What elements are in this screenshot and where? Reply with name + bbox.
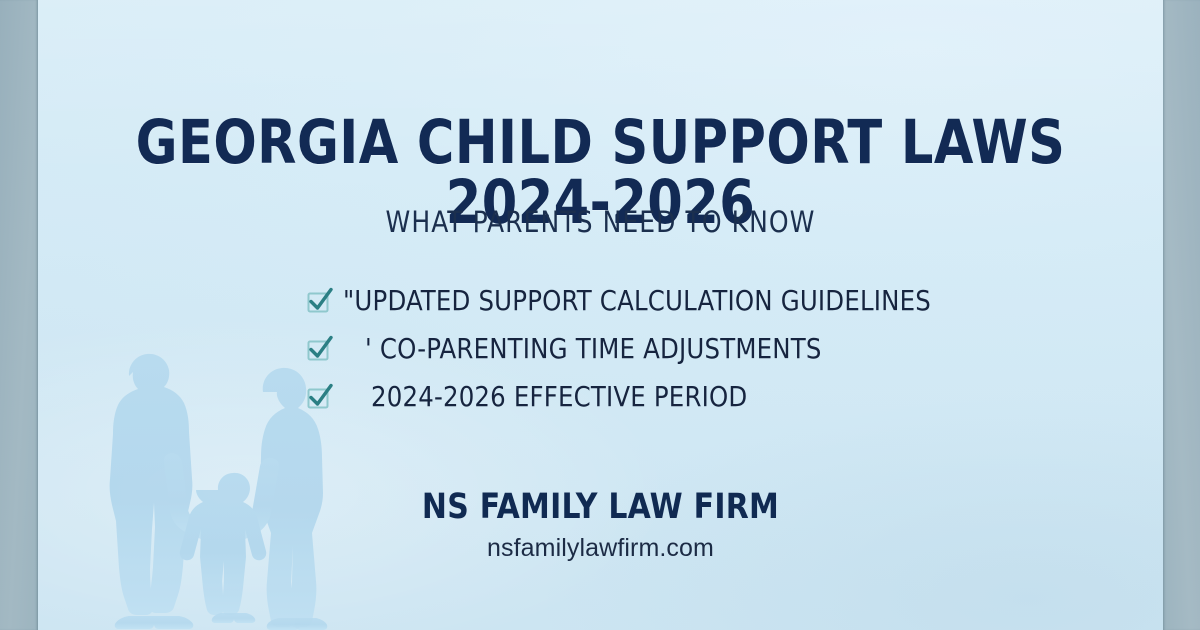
checkmark-icon — [305, 285, 335, 315]
letterbox-bar-right — [1163, 0, 1200, 630]
page-subtitle: WHAT PARENTS NEED TO KNOW — [61, 205, 1141, 239]
checklist-item-label: 2024-2026 EFFECTIVE PERIOD — [371, 380, 747, 413]
checklist-item-label: "UPDATED SUPPORT CALCULATION GUIDELINES — [343, 284, 931, 317]
poster-background: GEORGIA CHILD SUPPORT LAWS 2024-2026 WHA… — [38, 0, 1163, 630]
checklist-item: 2024-2026 EFFECTIVE PERIOD — [297, 379, 905, 413]
website-url[interactable]: nsfamilylawfirm.com — [38, 534, 1163, 563]
brand-name: NS FAMILY LAW FIRM — [66, 487, 1135, 527]
checklist-item-label: ' CO-PARENTING TIME ADJUSTMENTS — [365, 332, 822, 365]
poster-canvas: GEORGIA CHILD SUPPORT LAWS 2024-2026 WHA… — [0, 0, 1200, 630]
checklist-item: "UPDATED SUPPORT CALCULATION GUIDELINES — [297, 283, 905, 317]
checkmark-icon — [305, 333, 335, 363]
letterbox-bar-left — [0, 0, 38, 630]
checklist-item: ' CO-PARENTING TIME ADJUSTMENTS — [297, 331, 905, 365]
checkmark-icon — [305, 381, 335, 411]
feature-checklist: "UPDATED SUPPORT CALCULATION GUIDELINES … — [38, 283, 1163, 413]
